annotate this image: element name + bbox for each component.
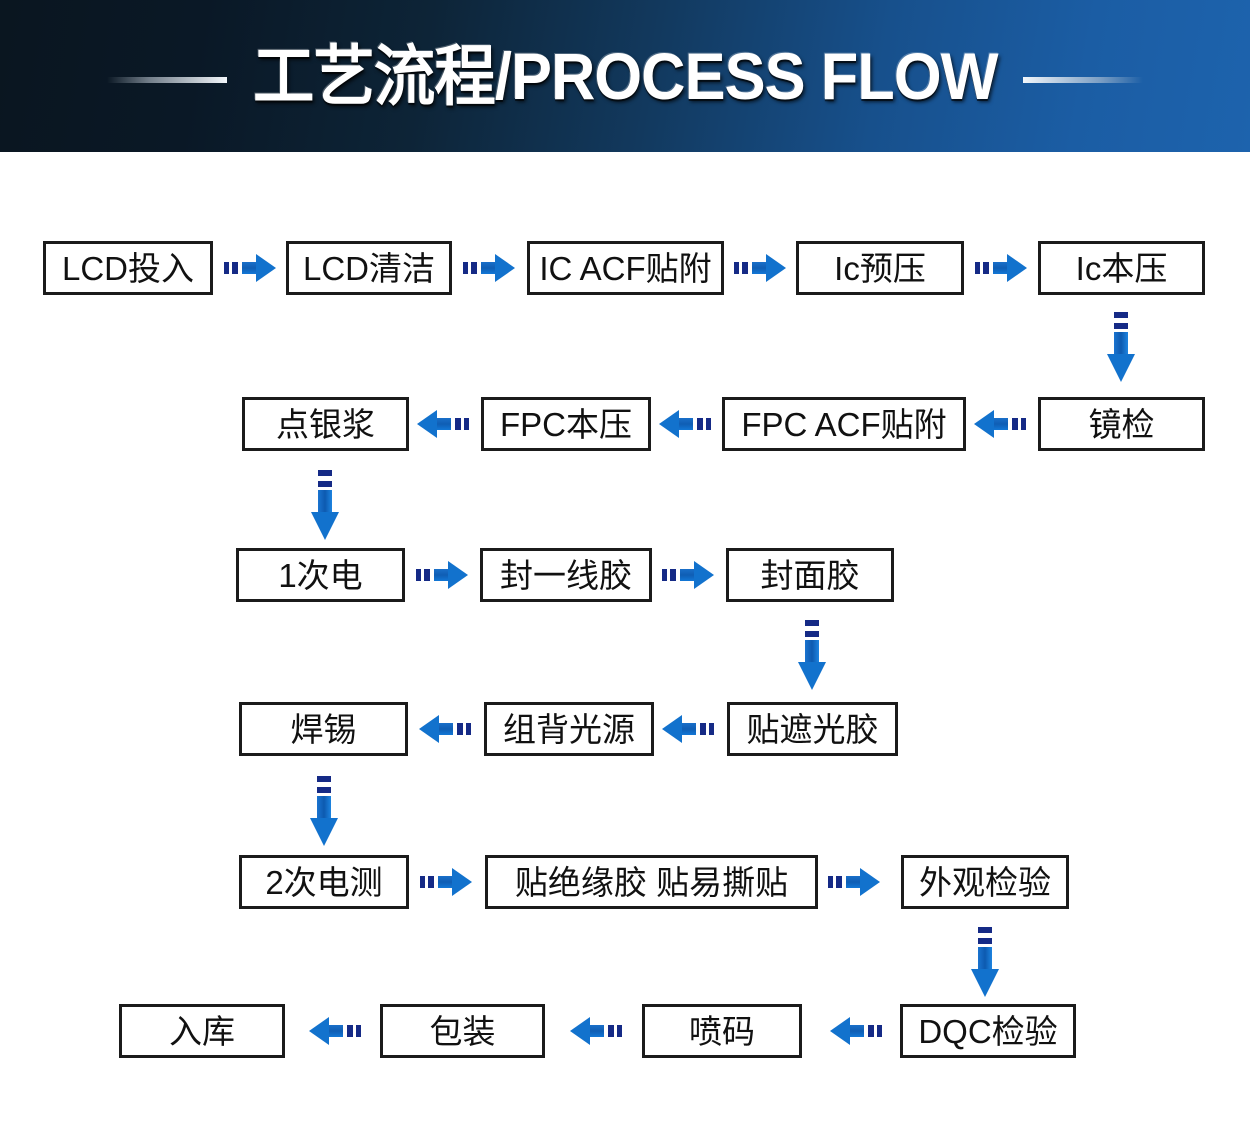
flow-arrow-down [307, 776, 341, 848]
arrow-dash-icon [464, 418, 469, 430]
arrow-dash-icon [877, 1025, 882, 1037]
flow-arrow-right [414, 558, 470, 592]
arrow-dash-icon [975, 262, 980, 274]
flow-node-insulation-and-tear-tape[interactable]: 贴绝缘胶 贴易撕贴 [485, 855, 818, 909]
flow-node-seal-line-glue[interactable]: 封一线胶 [480, 548, 652, 602]
flow-arrow-down [968, 927, 1002, 999]
arrow-dash-icon [734, 262, 739, 274]
arrow-head-icon [860, 868, 880, 896]
arrow-dash-icon [416, 569, 421, 581]
arrow-dash-icon [428, 876, 434, 888]
arrow-dash-icon [347, 1025, 353, 1037]
arrow-dash-icon [466, 723, 471, 735]
arrow-head-icon [1007, 254, 1027, 282]
banner-rule-left-decoration [107, 77, 227, 83]
flow-node-cover-glue[interactable]: 封面胶 [726, 548, 894, 602]
flow-node-warehouse-in[interactable]: 入库 [119, 1004, 285, 1058]
arrow-shaft-icon [680, 723, 696, 735]
arrow-dash-icon [617, 1025, 622, 1037]
arrow-shaft-icon [978, 947, 992, 971]
arrow-dash-icon [356, 1025, 361, 1037]
arrow-head-icon [974, 410, 994, 438]
flow-arrow-left [828, 1014, 884, 1048]
arrow-head-icon [662, 715, 682, 743]
flow-arrow-right [732, 251, 788, 285]
arrow-dash-icon [742, 262, 748, 274]
arrow-shaft-icon [435, 418, 451, 430]
flow-arrow-left [415, 407, 471, 441]
arrow-head-icon [798, 662, 826, 690]
arrow-head-icon [448, 561, 468, 589]
banner-content: 工艺流程/PROCESS FLOW [0, 0, 1250, 152]
arrow-head-icon [659, 410, 679, 438]
arrow-dash-icon [805, 620, 819, 626]
flow-node-inkjet-coding[interactable]: 喷码 [642, 1004, 802, 1058]
arrow-dash-icon [670, 569, 676, 581]
flow-node-appearance-inspection[interactable]: 外观检验 [901, 855, 1069, 909]
arrow-dash-icon [232, 262, 238, 274]
arrow-head-icon [694, 561, 714, 589]
arrow-head-icon [971, 969, 999, 997]
flow-node-backlight-assembly[interactable]: 组背光源 [484, 702, 654, 756]
flow-node-soldering[interactable]: 焊锡 [239, 702, 408, 756]
flow-arrow-right [461, 251, 517, 285]
arrow-dash-icon [471, 262, 477, 274]
arrow-dash-icon [836, 876, 842, 888]
arrow-dash-icon [317, 787, 331, 793]
arrow-dash-icon [224, 262, 229, 274]
arrow-dash-icon [463, 262, 468, 274]
flow-node-silver-paste-dispense[interactable]: 点银浆 [242, 397, 409, 451]
arrow-dash-icon [709, 723, 714, 735]
flow-node-light-shield-tape[interactable]: 贴遮光胶 [727, 702, 898, 756]
flow-node-dqc-inspection[interactable]: DQC检验 [900, 1004, 1076, 1058]
flow-node-lcd-input[interactable]: LCD投入 [43, 241, 213, 295]
arrow-dash-icon [983, 262, 989, 274]
arrow-head-icon [452, 868, 472, 896]
arrow-head-icon [1107, 354, 1135, 382]
flow-arrow-left [657, 407, 713, 441]
arrow-dash-icon [978, 927, 992, 933]
arrow-dash-icon [318, 470, 332, 476]
arrow-shaft-icon [805, 640, 819, 664]
arrow-dash-icon [317, 776, 331, 782]
arrow-head-icon [256, 254, 276, 282]
arrow-shaft-icon [677, 418, 693, 430]
process-flow-diagram: LCD投入 LCD清洁 IC ACF贴附 Ic预压 Ic本压 镜检 [0, 152, 1250, 1127]
flow-node-ic-acf-attach[interactable]: IC ACF贴附 [527, 241, 724, 295]
arrow-shaft-icon [327, 1025, 343, 1037]
arrow-dash-icon [318, 481, 332, 487]
arrow-dash-icon [828, 876, 833, 888]
flow-arrow-right [418, 865, 474, 899]
arrow-head-icon [310, 818, 338, 846]
banner-rule-right-decoration [1023, 77, 1143, 83]
flow-arrow-right [222, 251, 278, 285]
flow-node-fpc-main-press[interactable]: FPC本压 [481, 397, 651, 451]
flow-node-second-electrical-test[interactable]: 2次电测 [239, 855, 409, 909]
arrow-dash-icon [608, 1025, 614, 1037]
arrow-dash-icon [706, 418, 711, 430]
arrow-head-icon [570, 1017, 590, 1045]
arrow-dash-icon [805, 631, 819, 637]
arrow-shaft-icon [848, 1025, 864, 1037]
arrow-dash-icon [662, 569, 667, 581]
arrow-dash-icon [1012, 418, 1018, 430]
flow-arrow-left [972, 407, 1028, 441]
arrow-head-icon [309, 1017, 329, 1045]
arrow-head-icon [417, 410, 437, 438]
arrow-dash-icon [1114, 323, 1128, 329]
flow-arrow-down [1104, 312, 1138, 384]
flow-arrow-right [826, 865, 882, 899]
arrow-dash-icon [424, 569, 430, 581]
flow-node-lcd-clean[interactable]: LCD清洁 [286, 241, 452, 295]
flow-node-fpc-acf-attach[interactable]: FPC ACF贴附 [722, 397, 966, 451]
arrow-shaft-icon [318, 490, 332, 514]
arrow-head-icon [419, 715, 439, 743]
arrow-shaft-icon [317, 796, 331, 820]
flow-node-ic-main-press[interactable]: Ic本压 [1038, 241, 1205, 295]
arrow-dash-icon [697, 418, 703, 430]
arrow-head-icon [495, 254, 515, 282]
arrow-dash-icon [420, 876, 425, 888]
flow-arrow-left [307, 1014, 363, 1048]
arrow-dash-icon [1021, 418, 1026, 430]
flow-arrow-right [973, 251, 1029, 285]
arrow-dash-icon [978, 938, 992, 944]
arrow-shaft-icon [992, 418, 1008, 430]
flow-arrow-down [795, 620, 829, 692]
arrow-dash-icon [455, 418, 461, 430]
arrow-dash-icon [1114, 312, 1128, 318]
arrow-head-icon [311, 512, 339, 540]
arrow-dash-icon [457, 723, 463, 735]
arrow-shaft-icon [588, 1025, 604, 1037]
arrow-shaft-icon [437, 723, 453, 735]
page-header-banner: 工艺流程/PROCESS FLOW [0, 0, 1250, 152]
flow-node-packaging[interactable]: 包装 [380, 1004, 545, 1058]
arrow-dash-icon [700, 723, 706, 735]
arrow-head-icon [830, 1017, 850, 1045]
flow-arrow-left [660, 712, 716, 746]
flow-node-ic-pre-press[interactable]: Ic预压 [796, 241, 964, 295]
flow-arrow-left [568, 1014, 624, 1048]
flow-node-microscope-inspection[interactable]: 镜检 [1038, 397, 1205, 451]
flow-arrow-left [417, 712, 473, 746]
arrow-head-icon [766, 254, 786, 282]
flow-arrow-down [308, 470, 342, 542]
page-title: 工艺流程/PROCESS FLOW [249, 43, 1001, 109]
flow-arrow-right [660, 558, 716, 592]
arrow-dash-icon [868, 1025, 874, 1037]
arrow-shaft-icon [1114, 332, 1128, 356]
flow-node-first-electrical-test[interactable]: 1次电 [236, 548, 405, 602]
